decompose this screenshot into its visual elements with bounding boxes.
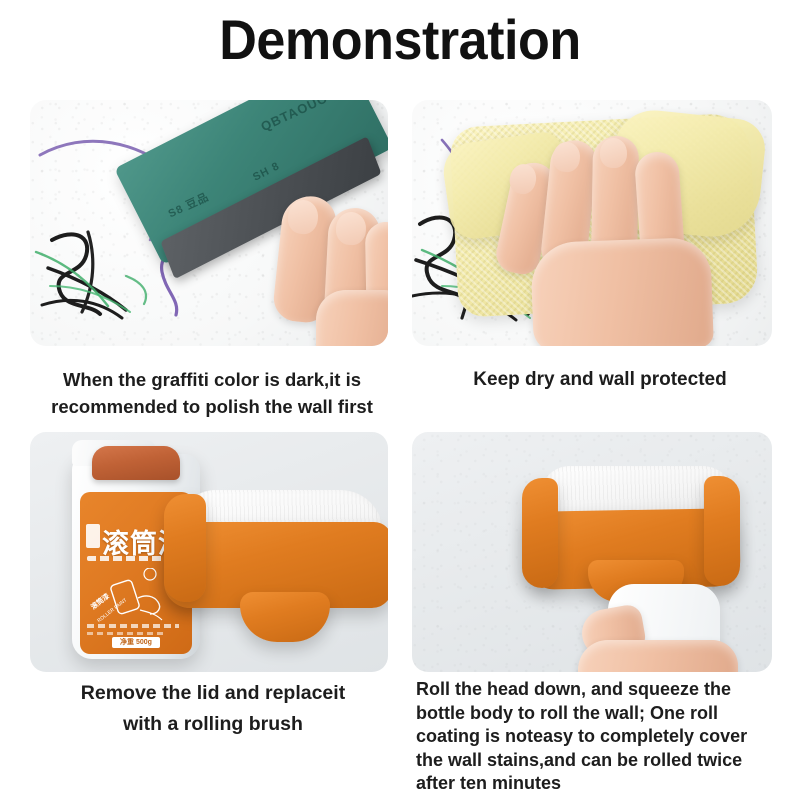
- bottle-lid: [92, 446, 180, 480]
- caption-line: Roll the head down, and squeeze the: [416, 678, 786, 702]
- caption-line: recommended to polish the wall first: [22, 393, 402, 420]
- step-3-caption: Remove the lid and replaceit with a roll…: [22, 678, 404, 740]
- page-title: Demonstration: [28, 8, 772, 72]
- step-1-photo: QBTAOUC S8 豆品 SH 8: [30, 100, 388, 346]
- studio-background-3: 滚筒漆 滚筒漆 ROLLER PAINT 净重 500g: [30, 432, 388, 672]
- label-fineprint: [87, 624, 179, 628]
- svg-text:滚筒漆: 滚筒漆: [89, 591, 111, 611]
- step-3-photo: 滚筒漆 滚筒漆 ROLLER PAINT 净重 500g: [30, 432, 388, 672]
- palm: [316, 290, 388, 346]
- label-weight-badge: 净重 500g: [112, 637, 160, 648]
- caption-line: coating is noteasy to completely cover: [416, 725, 786, 749]
- step-1-caption: When the graffiti color is dark,it is re…: [22, 366, 402, 420]
- demonstration-page: Demonstration: [0, 0, 800, 800]
- caption-line: after ten minutes: [416, 772, 786, 796]
- wall-background-2: [412, 100, 772, 346]
- palm: [530, 237, 714, 346]
- step-2-caption: Keep dry and wall protected: [414, 366, 786, 393]
- fingernail: [600, 138, 628, 168]
- caption-line: with a rolling brush: [22, 709, 404, 740]
- caption-line: Remove the lid and replaceit: [22, 678, 404, 709]
- caption-line: bottle body to roll the wall; One roll: [416, 702, 786, 726]
- wall-background-1: QBTAOUC S8 豆品 SH 8: [30, 100, 388, 346]
- caption-line: the wall stains,and can be rolled twice: [416, 749, 786, 773]
- roller-stem: [240, 592, 330, 642]
- caption-line: When the graffiti color is dark,it is: [22, 366, 402, 393]
- roller-end-cap-left: [522, 478, 558, 588]
- label-side-tag: [86, 524, 100, 548]
- roller-end-cap: [164, 494, 206, 602]
- wall-background-4: [412, 432, 772, 672]
- step-4-photo: [412, 432, 772, 672]
- hand: [578, 640, 738, 672]
- label-fineprint: [87, 632, 167, 635]
- caption-line: Keep dry and wall protected: [414, 366, 786, 393]
- roller-end-cap-right: [704, 476, 740, 586]
- step-2-photo: [412, 100, 772, 346]
- step-4-caption: Roll the head down, and squeeze the bott…: [416, 678, 786, 796]
